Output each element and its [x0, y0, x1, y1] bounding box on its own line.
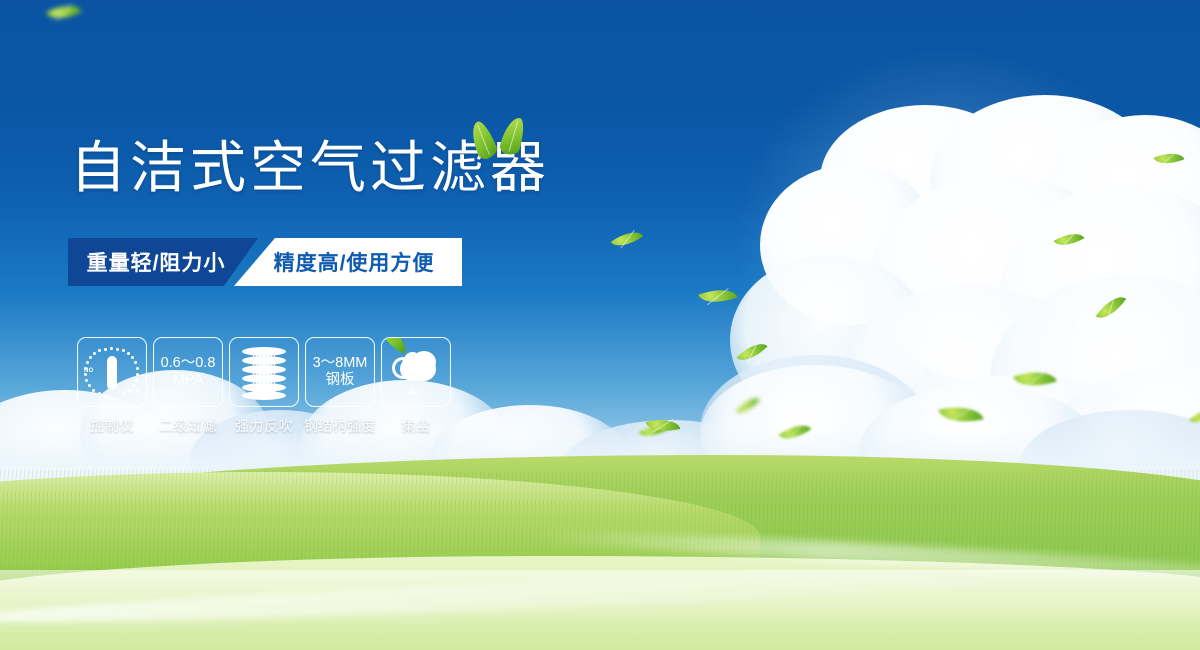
subtitle-left-segment: 重量轻/阻力小: [68, 238, 258, 286]
feature-label: 二级过滤: [159, 416, 217, 436]
feature-icon-box: 3～8MM 钢板: [305, 337, 375, 407]
feature-icon-box: [229, 337, 299, 407]
feature-item-dust-collection[interactable]: Air 集尘: [382, 337, 450, 436]
pressure-range: 0.6～0.8: [161, 355, 216, 372]
horizon-haze: [0, 430, 1200, 500]
path-streak-secondary: [520, 525, 1200, 585]
subtitle-right-segment: 精度高/使用方便: [234, 238, 462, 286]
feature-icon-box: Air: [381, 337, 451, 407]
steel-thickness: 3～8MM: [313, 355, 368, 372]
air-cloud-icon: Air: [390, 349, 442, 395]
pressure-unit: MPA: [161, 372, 216, 389]
gauge-label-no: NO: [84, 368, 94, 374]
feature-label: 集尘: [402, 416, 431, 436]
subtitle-right-text: 精度高/使用方便: [274, 247, 435, 277]
feature-list: NO OFF 控制仪 0.6～0.8 MPA 二级过滤: [78, 337, 450, 436]
pressure-text-icon: 0.6～0.8 MPA: [161, 355, 216, 389]
feature-item-controller[interactable]: NO OFF 控制仪: [78, 337, 146, 436]
feature-label: 强力反吹: [235, 416, 293, 436]
subtitle-left-text: 重量轻/阻力小: [87, 247, 226, 277]
feature-label: 控制仪: [90, 416, 134, 436]
steel-material: 钢板: [313, 372, 368, 389]
feature-item-two-stage-filter[interactable]: 0.6～0.8 MPA 二级过滤: [154, 337, 222, 436]
air-label: Air: [390, 386, 442, 398]
subtitle-band: 重量轻/阻力小 精度高/使用方便: [68, 238, 462, 286]
feature-icon-box: NO OFF: [77, 337, 147, 407]
gauge-needle: [107, 356, 117, 390]
field-sheen: [0, 570, 1200, 650]
field-foreground: [0, 556, 1200, 650]
feature-label: 钢结构强度: [304, 416, 377, 436]
feature-item-steel-strength[interactable]: 3～8MM 钢板 钢结构强度: [306, 337, 374, 436]
gauge-label-off: OFF: [127, 389, 140, 395]
feature-icon-box: 0.6～0.8 MPA: [153, 337, 223, 407]
sprout-leaves-icon: [473, 113, 533, 161]
feature-item-pulse-blowback[interactable]: 强力反吹: [230, 337, 298, 436]
steel-text-icon: 3～8MM 钢板: [313, 355, 368, 389]
path-streak: [0, 563, 1060, 631]
product-banner: 自洁式空气过滤器 重量轻/阻力小 精度高/使用方便: [0, 0, 1200, 650]
filter-stack-icon: [242, 347, 286, 397]
gauge-icon: NO OFF: [84, 346, 140, 398]
